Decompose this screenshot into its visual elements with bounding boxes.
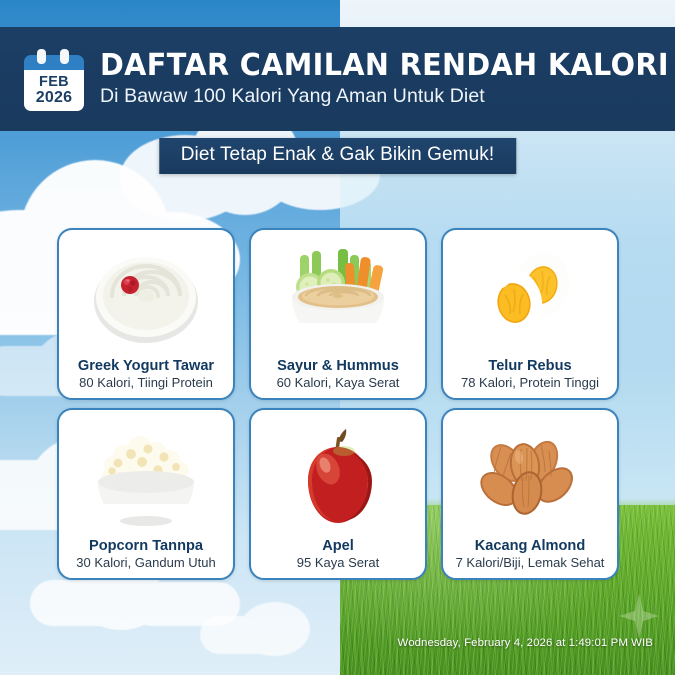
snack-title: Popcorn Tannpa xyxy=(65,538,227,555)
timestamp-footer: Wodnesday, February 4, 2026 at 1:49:01 P… xyxy=(398,637,653,649)
snack-caption: Popcorn Tannpa 30 Kalori, Gandum Utuh xyxy=(65,538,227,571)
tagline-badge: Diet Tetap Enak & Gak Bikin Gemuk! xyxy=(159,138,517,174)
snack-title: Kacang Almond xyxy=(449,538,611,555)
snack-card-grid: Greek Yogurt Tawar 80 Kalori, Tiingi Pro… xyxy=(57,228,619,580)
popcorn-bowl-icon xyxy=(65,417,227,538)
snack-caption: Greek Yogurt Tawar 80 Kalori, Tiingi Pro… xyxy=(65,358,227,391)
snack-subtitle: 60 Kalori, Kaya Serat xyxy=(257,375,419,391)
infographic-poster: FEB 2026 DAFTAR CAMILAN RENDAH KALORI Di… xyxy=(0,0,675,675)
almonds-icon xyxy=(449,417,611,538)
yogurt-bowl-icon xyxy=(65,237,227,358)
snack-card[interactable]: Greek Yogurt Tawar 80 Kalori, Tiingi Pro… xyxy=(57,228,235,400)
snack-card[interactable]: Sayur & Hummus 60 Kalori, Kaya Serat xyxy=(249,228,427,400)
page-title: DAFTAR CAMILAN RENDAH KALORI xyxy=(100,50,669,82)
header-text-group: DAFTAR CAMILAN RENDAH KALORI Di Bawaw 10… xyxy=(100,50,675,108)
snack-card[interactable]: Popcorn Tannpa 30 Kalori, Gandum Utuh xyxy=(57,408,235,580)
snack-caption: Sayur & Hummus 60 Kalori, Kaya Serat xyxy=(257,358,419,391)
snack-subtitle: 95 Kaya Serat xyxy=(257,555,419,571)
calendar-body: FEB 2026 xyxy=(24,70,84,111)
page-subtitle: Di Bawaw 100 Kalori Yang Aman Untuk Diet xyxy=(100,85,675,108)
calendar-month: FEB xyxy=(39,75,69,90)
calendar-icon: FEB 2026 xyxy=(24,49,84,111)
calendar-ring-left xyxy=(37,49,46,64)
snack-title: Sayur & Hummus xyxy=(257,358,419,375)
snack-title: Apel xyxy=(257,538,419,555)
snack-subtitle: 30 Kalori, Gandum Utuh xyxy=(65,555,227,571)
snack-subtitle: 7 Kalori/Biji, Lemak Sehat xyxy=(449,555,611,571)
snack-caption: Kacang Almond 7 Kalori/Biji, Lemak Sehat xyxy=(449,538,611,571)
snack-caption: Telur Rebus 78 Kalori, Protein Tinggi xyxy=(449,358,611,391)
snack-card[interactable]: Kacang Almond 7 Kalori/Biji, Lemak Sehat xyxy=(441,408,619,580)
snack-title: Greek Yogurt Tawar xyxy=(65,358,227,375)
sparkle-icon xyxy=(619,593,659,639)
snack-subtitle: 80 Kalori, Tiingi Protein xyxy=(65,375,227,391)
hummus-bowl-icon xyxy=(257,237,419,358)
apple-icon xyxy=(257,417,419,538)
snack-subtitle: 78 Kalori, Protein Tinggi xyxy=(449,375,611,391)
calendar-ring-right xyxy=(60,49,69,64)
boiled-egg-icon xyxy=(449,237,611,358)
snack-card[interactable]: Apel 95 Kaya Serat xyxy=(249,408,427,580)
snack-card[interactable]: Telur Rebus 78 Kalori, Protein Tinggi xyxy=(441,228,619,400)
snack-title: Telur Rebus xyxy=(449,358,611,375)
calendar-year: 2026 xyxy=(36,90,72,106)
snack-caption: Apel 95 Kaya Serat xyxy=(257,538,419,571)
header-band: FEB 2026 DAFTAR CAMILAN RENDAH KALORI Di… xyxy=(0,27,675,131)
